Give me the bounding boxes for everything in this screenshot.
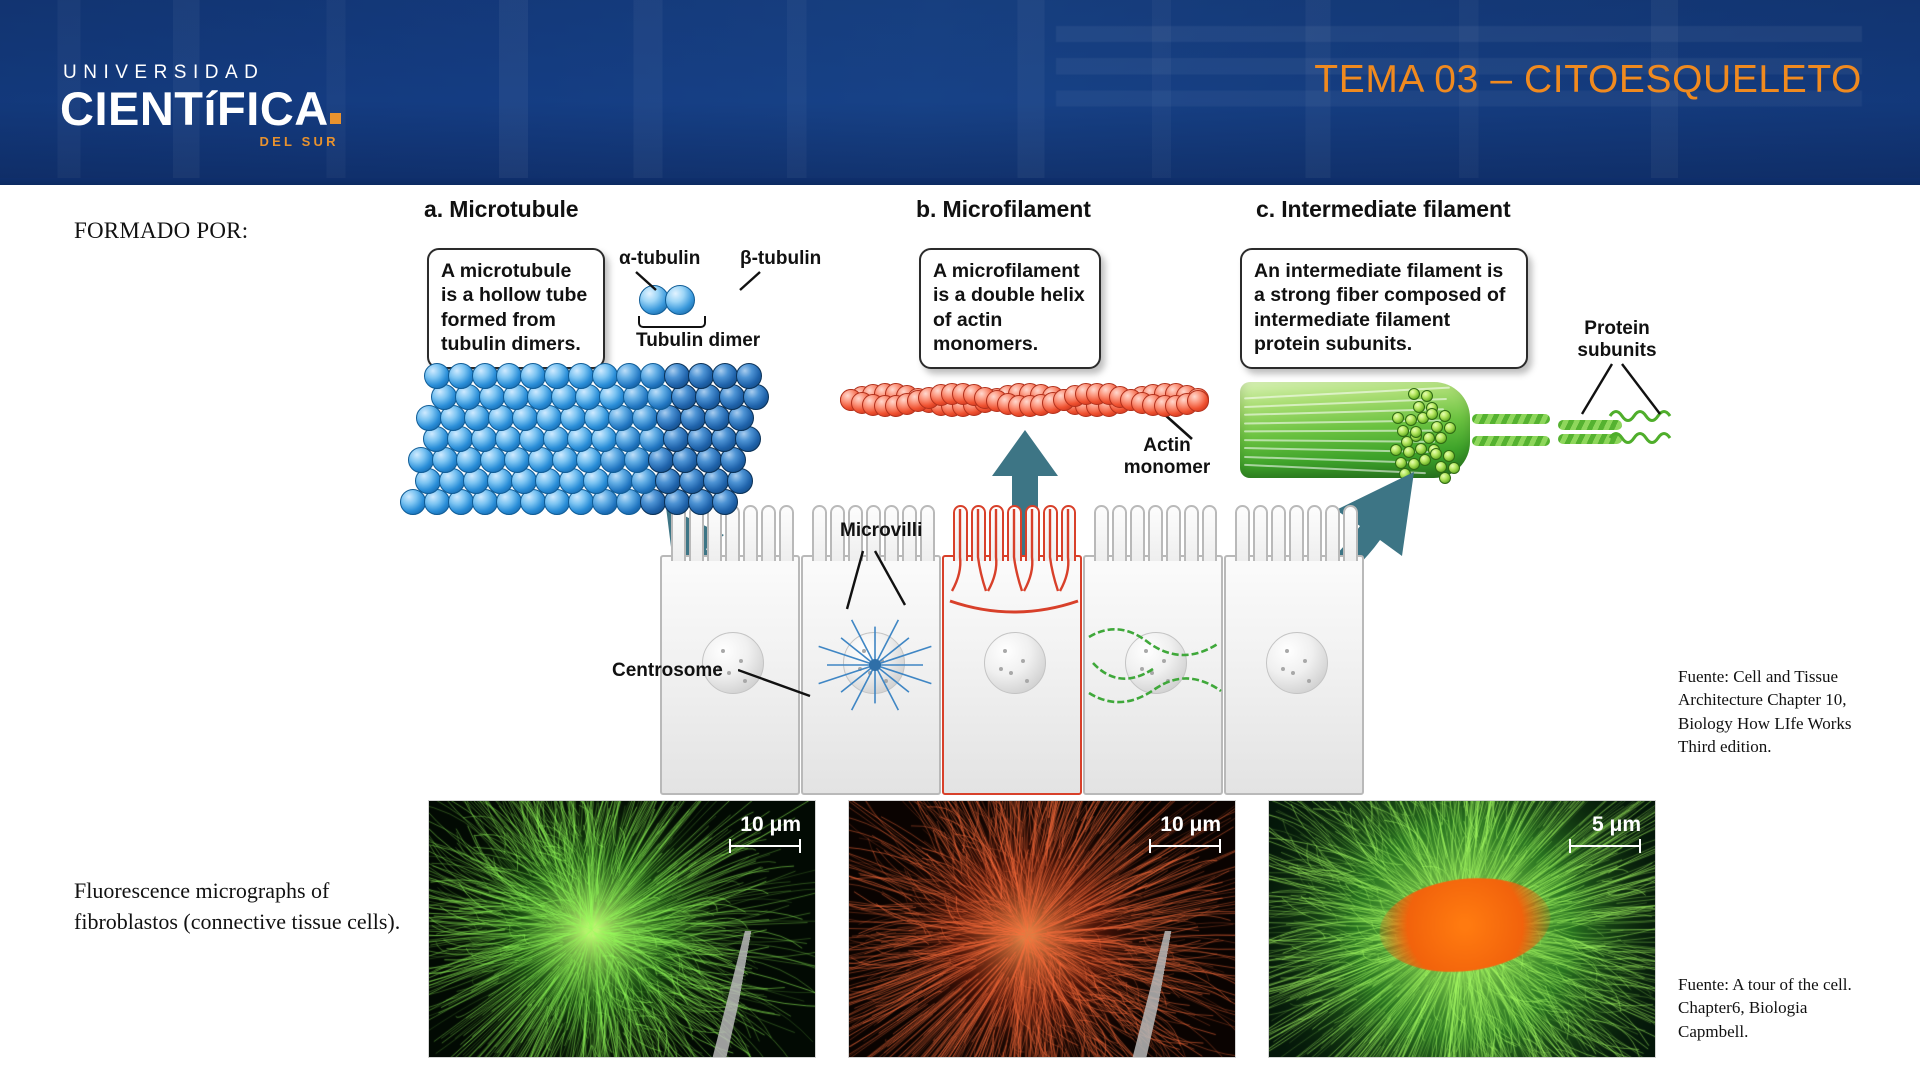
nucleus-speck (1307, 679, 1311, 683)
micrograph-microfilament: 10 μm (848, 800, 1236, 1058)
microvillus-icon (1235, 505, 1250, 561)
micrograph-microfilament-image (849, 801, 1236, 1058)
label-centrosome: Centrosome (612, 660, 723, 682)
intermediate-filament-network (1085, 597, 1225, 767)
protein-subunit-icon (1403, 446, 1415, 458)
microvilli-leader-lines (845, 545, 925, 625)
protein-subunit-icon (1392, 412, 1404, 424)
microvillus-icon (1253, 505, 1268, 561)
actin-network (944, 505, 1084, 797)
callout-intermediate-filament: An intermediate filament is a strong fib… (1240, 248, 1528, 369)
micrograph-caption: Fluorescence micrographs of fibroblastos… (74, 875, 434, 937)
microvillus-icon (812, 505, 827, 561)
microvillus-icon (779, 505, 794, 561)
page-title: TEMA 03 – CITOESQUELETO (1314, 58, 1862, 102)
label-tubulin-dimer: Tubulin dimer (636, 330, 760, 352)
nucleus-speck (721, 649, 725, 653)
tubulin-subunit-icon (616, 363, 642, 389)
tubulin-subunit-icon (640, 363, 666, 389)
micrograph-microtubule: 10 μm (428, 800, 816, 1058)
tubulin-subunit-icon (544, 363, 570, 389)
protein-subunit-cluster-icon (1430, 448, 1468, 486)
protein-subunit-icon (1439, 410, 1451, 422)
tubulin-subunit-icon (496, 363, 522, 389)
microvillus-icon (1148, 505, 1163, 561)
formado-por-label: FORMADO POR: (74, 218, 248, 244)
protein-subunits-leader-lines (1560, 362, 1690, 422)
logo-accent-dot-icon (330, 113, 341, 124)
tubulin-dimer-brace (638, 316, 706, 328)
slide-header: UNIVERSIDAD CIENTíFICA DEL SUR TEMA 03 –… (0, 0, 1920, 185)
label-microvilli: Microvilli (840, 520, 922, 542)
microvillus-icon (1325, 505, 1340, 561)
panel-heading-microfilament: b. Microfilament (916, 196, 1091, 223)
protein-subunit-icon (1405, 414, 1417, 426)
logo-main-word: CIENTíFICA (60, 82, 329, 135)
slide-root: UNIVERSIDAD CIENTíFICA DEL SUR TEMA 03 –… (0, 0, 1920, 1080)
microvillus-icon (1130, 505, 1145, 561)
tubulin-subunit-icon (568, 363, 594, 389)
microvillus-icon (1112, 505, 1127, 561)
microvillus-icon (1184, 505, 1199, 561)
tubulin-subunit-icon (688, 363, 714, 389)
protein-subunit-icon (1421, 390, 1433, 402)
micrograph-3-scale-bar (1569, 845, 1641, 847)
centrosome-leader-line (738, 662, 818, 704)
micrograph-2-scale-label: 10 μm (1160, 813, 1221, 837)
micrograph-2-scale-bar (1149, 845, 1221, 847)
filament-rope-segment (1472, 436, 1550, 446)
epithelial-cell (942, 555, 1082, 795)
tubulin-subunit-icon (664, 363, 690, 389)
protein-subunit-icon (1390, 444, 1402, 456)
label-protein-subunits: Protein subunits (1562, 318, 1672, 363)
microvillus-icon (761, 505, 776, 561)
microvillus-icon (1271, 505, 1286, 561)
logo-text-cientifica: CIENTíFICA (60, 85, 341, 133)
microvilli-group (1085, 505, 1221, 559)
cell-nucleus (1266, 632, 1328, 694)
nucleus-speck (727, 671, 731, 675)
protein-subunit-icon (1439, 472, 1451, 484)
tubulin-subunit-icon (448, 363, 474, 389)
microvilli-group (1226, 505, 1362, 559)
micrograph-1-scale-bar (729, 845, 801, 847)
tubulin-subunit-icon (424, 363, 450, 389)
protein-subunit-icon (1408, 458, 1420, 470)
nucleus-speck (1291, 671, 1295, 675)
micrograph-microtubule-image (429, 801, 816, 1058)
logo-text-universidad: UNIVERSIDAD (63, 62, 341, 84)
logo-text-del-sur: DEL SUR (60, 134, 341, 149)
callout-microfilament: A microfilament is a double helix of act… (919, 248, 1101, 369)
protein-subunit-icon (1410, 426, 1422, 438)
microvillus-icon (1166, 505, 1181, 561)
tubulin-subunit-icon (592, 363, 618, 389)
microvillus-icon (1202, 505, 1217, 561)
microvillus-icon (1307, 505, 1322, 561)
protein-subunit-icon (1448, 462, 1460, 474)
protein-subunit-icon (1443, 450, 1455, 462)
micrograph-intermediate-filament-image (1269, 801, 1656, 1058)
tubulin-subunit-icon (472, 363, 498, 389)
callout-microtubule: A microtubule is a hollow tube formed fr… (427, 248, 605, 369)
tubulin-subunit-icon (712, 363, 738, 389)
nucleus-speck (1281, 667, 1285, 671)
nucleus-speck (1285, 649, 1289, 653)
microvillus-icon (1289, 505, 1304, 561)
microtubule-lattice-illustration (424, 363, 804, 513)
protein-subunit-icon (1408, 388, 1420, 400)
protein-subunit-icon (1430, 448, 1442, 460)
header-bottom-edge (0, 178, 1920, 185)
micrograph-1-scale-label: 10 μm (740, 813, 801, 837)
source-note-2: Fuente: A tour of the cell. Chapter6, Bi… (1678, 973, 1874, 1043)
tubulin-subunit-icon (520, 363, 546, 389)
micrograph-3-scale-label: 5 μm (1592, 813, 1641, 837)
nucleus-speck (1303, 659, 1307, 663)
microvillus-icon (1094, 505, 1109, 561)
filament-rope-segment (1472, 414, 1550, 424)
micrograph-intermediate-filament: 5 μm (1268, 800, 1656, 1058)
panel-heading-intermediate-filament: c. Intermediate filament (1256, 196, 1511, 223)
panel-heading-microtubule: a. Microtubule (424, 196, 579, 223)
epithelial-cell (1224, 555, 1364, 795)
epithelial-cell (1083, 555, 1223, 795)
tubulin-subunit-icon (736, 363, 762, 389)
tubulin-leader-lines (600, 268, 780, 308)
university-logo: UNIVERSIDAD CIENTíFICA DEL SUR (60, 62, 341, 149)
microvillus-icon (1343, 505, 1358, 561)
source-note-1: Fuente: Cell and Tissue Architecture Cha… (1678, 665, 1874, 759)
microvillus-icon (743, 505, 758, 561)
